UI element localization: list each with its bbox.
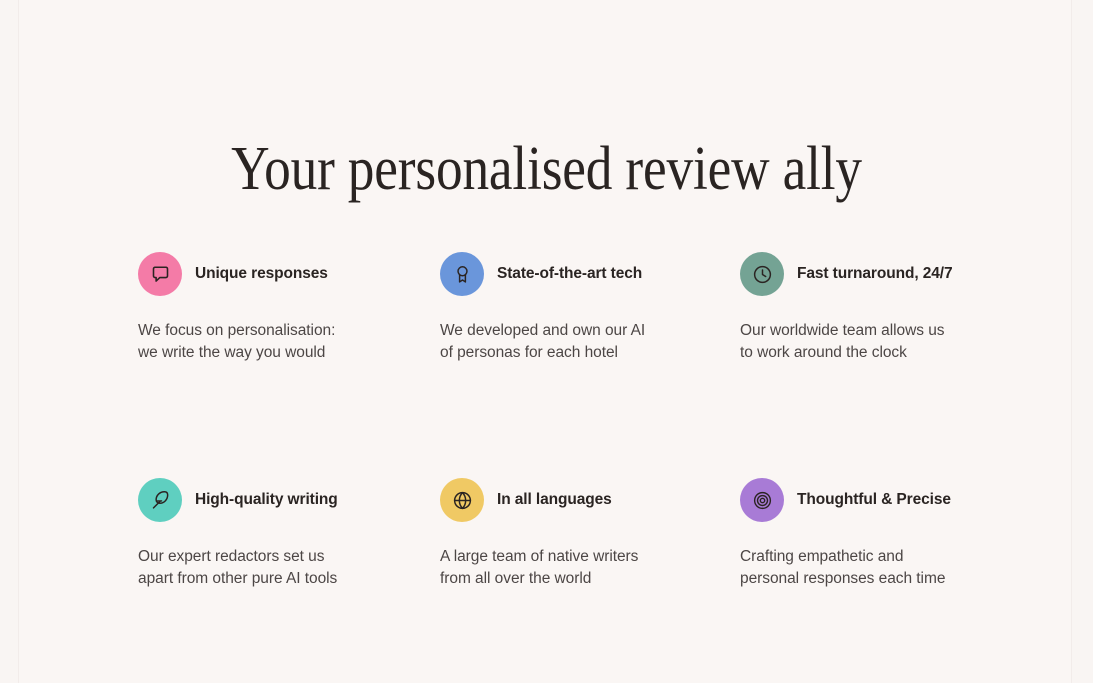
features-grid: Unique responses We focus on personalisa…	[138, 252, 1018, 590]
feature-header: In all languages	[440, 478, 700, 522]
feature-description-line: Crafting empathetic and	[740, 546, 990, 568]
feature-description-line: Our expert redactors set us	[138, 546, 388, 568]
feature-title: Thoughtful & Precise	[797, 491, 951, 509]
clock-icon	[740, 252, 784, 296]
feature-description-line: We developed and own our AI	[440, 320, 690, 342]
feature-description-line: of personas for each hotel	[440, 342, 690, 364]
award-medal-icon	[440, 252, 484, 296]
feature-description-line: We focus on personalisation:	[138, 320, 388, 342]
feature-card-unique-responses: Unique responses We focus on personalisa…	[138, 252, 398, 364]
feature-description-line: A large team of native writers	[440, 546, 690, 568]
feature-title: State-of-the-art tech	[497, 265, 642, 283]
feature-header: Thoughtful & Precise	[740, 478, 1000, 522]
feature-card-high-quality-writing: High-quality writing Our expert redactor…	[138, 478, 398, 590]
feature-description: A large team of native writers from all …	[440, 546, 690, 590]
feature-card-in-all-languages: In all languages A large team of native …	[440, 478, 700, 590]
feature-description-line: Our worldwide team allows us	[740, 320, 990, 342]
feather-quill-icon	[138, 478, 182, 522]
feature-description-line: we write the way you would	[138, 342, 388, 364]
page-title: Your personalised review ally	[77, 138, 1017, 200]
feature-header: State-of-the-art tech	[440, 252, 700, 296]
feature-header: Fast turnaround, 24/7	[740, 252, 1000, 296]
target-icon	[740, 478, 784, 522]
globe-icon	[440, 478, 484, 522]
feature-description-line: to work around the clock	[740, 342, 990, 364]
feature-description: Our worldwide team allows us to work aro…	[740, 320, 990, 364]
feature-description: Our expert redactors set us apart from o…	[138, 546, 388, 590]
feature-header: Unique responses	[138, 252, 398, 296]
feature-header: High-quality writing	[138, 478, 398, 522]
feature-card-state-of-the-art-tech: State-of-the-art tech We developed and o…	[440, 252, 700, 364]
feature-title: Unique responses	[195, 265, 328, 283]
feature-description: We developed and own our AI of personas …	[440, 320, 690, 364]
feature-description-line: personal responses each time	[740, 568, 990, 590]
feature-title: Fast turnaround, 24/7	[797, 265, 953, 283]
feature-card-thoughtful-precise: Thoughtful & Precise Crafting empathetic…	[740, 478, 1000, 590]
feature-description-line: from all over the world	[440, 568, 690, 590]
feature-card-fast-turnaround: Fast turnaround, 24/7 Our worldwide team…	[740, 252, 1000, 364]
feature-description: Crafting empathetic and personal respons…	[740, 546, 990, 590]
feature-title: In all languages	[497, 491, 612, 509]
speech-bubble-icon	[138, 252, 182, 296]
feature-description-line: apart from other pure AI tools	[138, 568, 388, 590]
feature-title: High-quality writing	[195, 491, 338, 509]
feature-description: We focus on personalisation: we write th…	[138, 320, 388, 364]
